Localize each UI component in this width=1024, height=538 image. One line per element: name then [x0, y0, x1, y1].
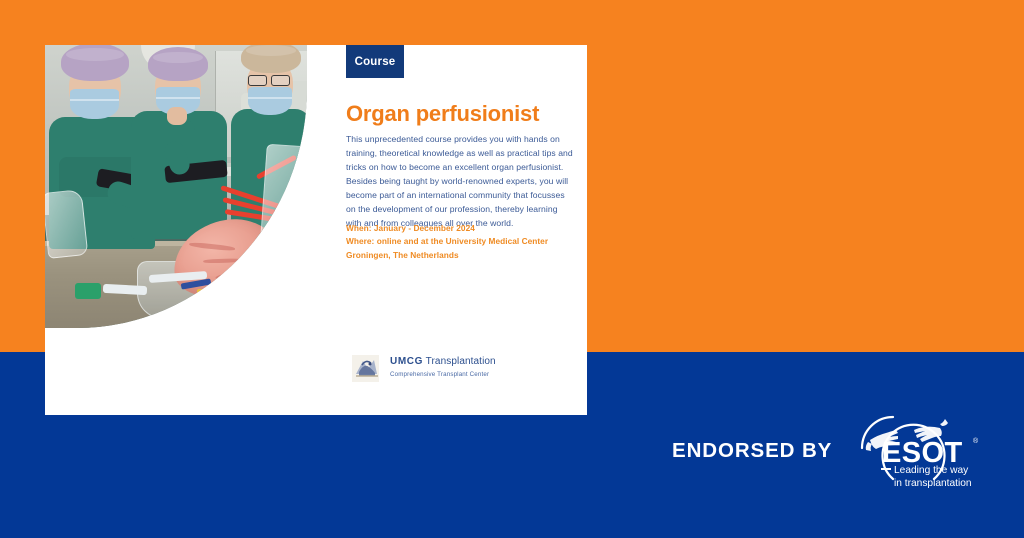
face-mask	[248, 87, 292, 115]
esot-tagline-rule	[881, 468, 891, 470]
esot-registered-mark: ®	[973, 438, 978, 445]
course-when: When: January - December 2024	[346, 222, 574, 235]
sterile-drape	[45, 189, 88, 259]
umcg-logo-title-rest: Transplantation	[423, 356, 496, 367]
valve-green	[75, 283, 101, 299]
umcg-logo-title: UMCG Transplantation	[390, 356, 496, 367]
course-card: Course Organ perfusionist This unprecede…	[45, 45, 587, 415]
photo-image	[45, 45, 307, 328]
surgical-cap	[61, 45, 129, 81]
eyeglasses-right-lens	[271, 75, 290, 86]
organ-vessel	[203, 258, 241, 263]
course-where-line-2: Groningen, The Netherlands	[346, 249, 574, 262]
umcg-logo-text: UMCG Transplantation Comprehensive Trans…	[390, 356, 496, 378]
umcg-griffin-mark	[350, 352, 384, 386]
hair-cover	[241, 45, 301, 73]
cannula-connector-yellow	[197, 289, 211, 296]
hand-at-chin	[167, 107, 187, 125]
course-description: This unprecedented course provides you w…	[346, 133, 574, 230]
course-badge: Course	[346, 45, 404, 78]
esot-logo: ESOT ® Leading the way in transplantatio…	[848, 406, 1008, 490]
course-where-line-1: Where: online and at the University Medi…	[346, 235, 574, 248]
flyer-canvas: Course Organ perfusionist This unprecede…	[0, 0, 1024, 538]
cannula-tubing	[241, 273, 271, 282]
organ-vessel	[189, 242, 235, 252]
surgical-cap	[148, 47, 208, 81]
umcg-acronym: UMCG	[390, 356, 423, 367]
endorsed-by-label: ENDORSED BY	[672, 439, 832, 463]
course-title: Organ perfusionist	[346, 102, 581, 126]
course-details: When: January - December 2024 Where: onl…	[346, 222, 574, 262]
esot-tagline: Leading the way in transplantation	[894, 464, 972, 490]
umcg-logo: UMCG Transplantation Comprehensive Trans…	[350, 352, 540, 388]
face-mask	[70, 89, 119, 119]
umcg-logo-subtitle: Comprehensive Transplant Center	[390, 371, 496, 378]
eyeglasses-left-lens	[248, 75, 267, 86]
course-photo	[45, 45, 307, 328]
clear-drape-right	[259, 144, 307, 257]
